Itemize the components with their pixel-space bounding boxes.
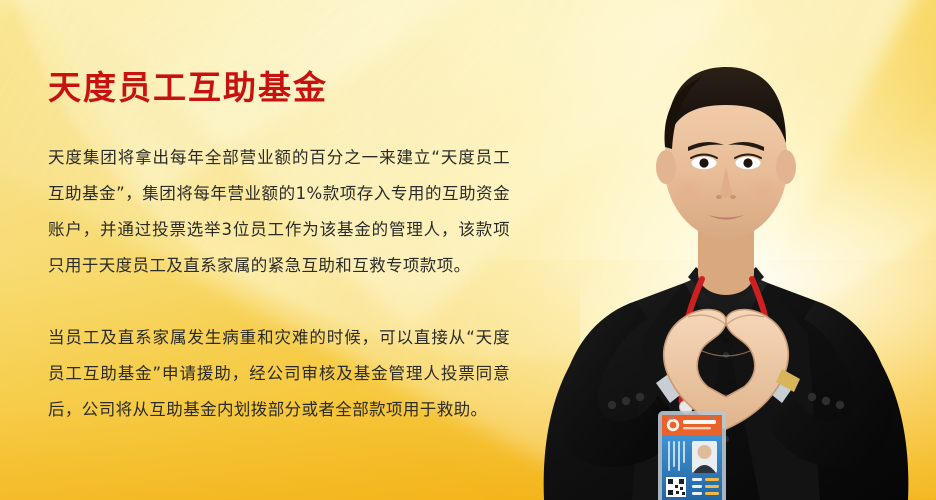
head	[656, 67, 796, 239]
banner-body-copy: 天度集团将拿出每年全部营业额的百分之一来建立“天度员工互助基金”，集团将每年营业…	[48, 140, 510, 428]
id-badge	[658, 411, 726, 500]
employee-photo	[516, 15, 936, 500]
page-title: 天度员工互助基金	[48, 68, 328, 108]
paragraph-fund-establishment: 天度集团将拿出每年全部营业额的百分之一来建立“天度员工互助基金”，集团将每年营业…	[48, 140, 510, 284]
banner-text-column: 天度员工互助基金 天度集团将拿出每年全部营业额的百分之一来建立“天度员工互助基金…	[48, 0, 518, 500]
paragraph-fund-application: 当员工及直系家属发生病重和灾难的时候，可以直接从“天度员工互助基金”申请援助，经…	[48, 320, 510, 428]
promo-banner: 天度员工互助基金 天度集团将拿出每年全部营业额的百分之一来建立“天度员工互助基金…	[0, 0, 936, 500]
